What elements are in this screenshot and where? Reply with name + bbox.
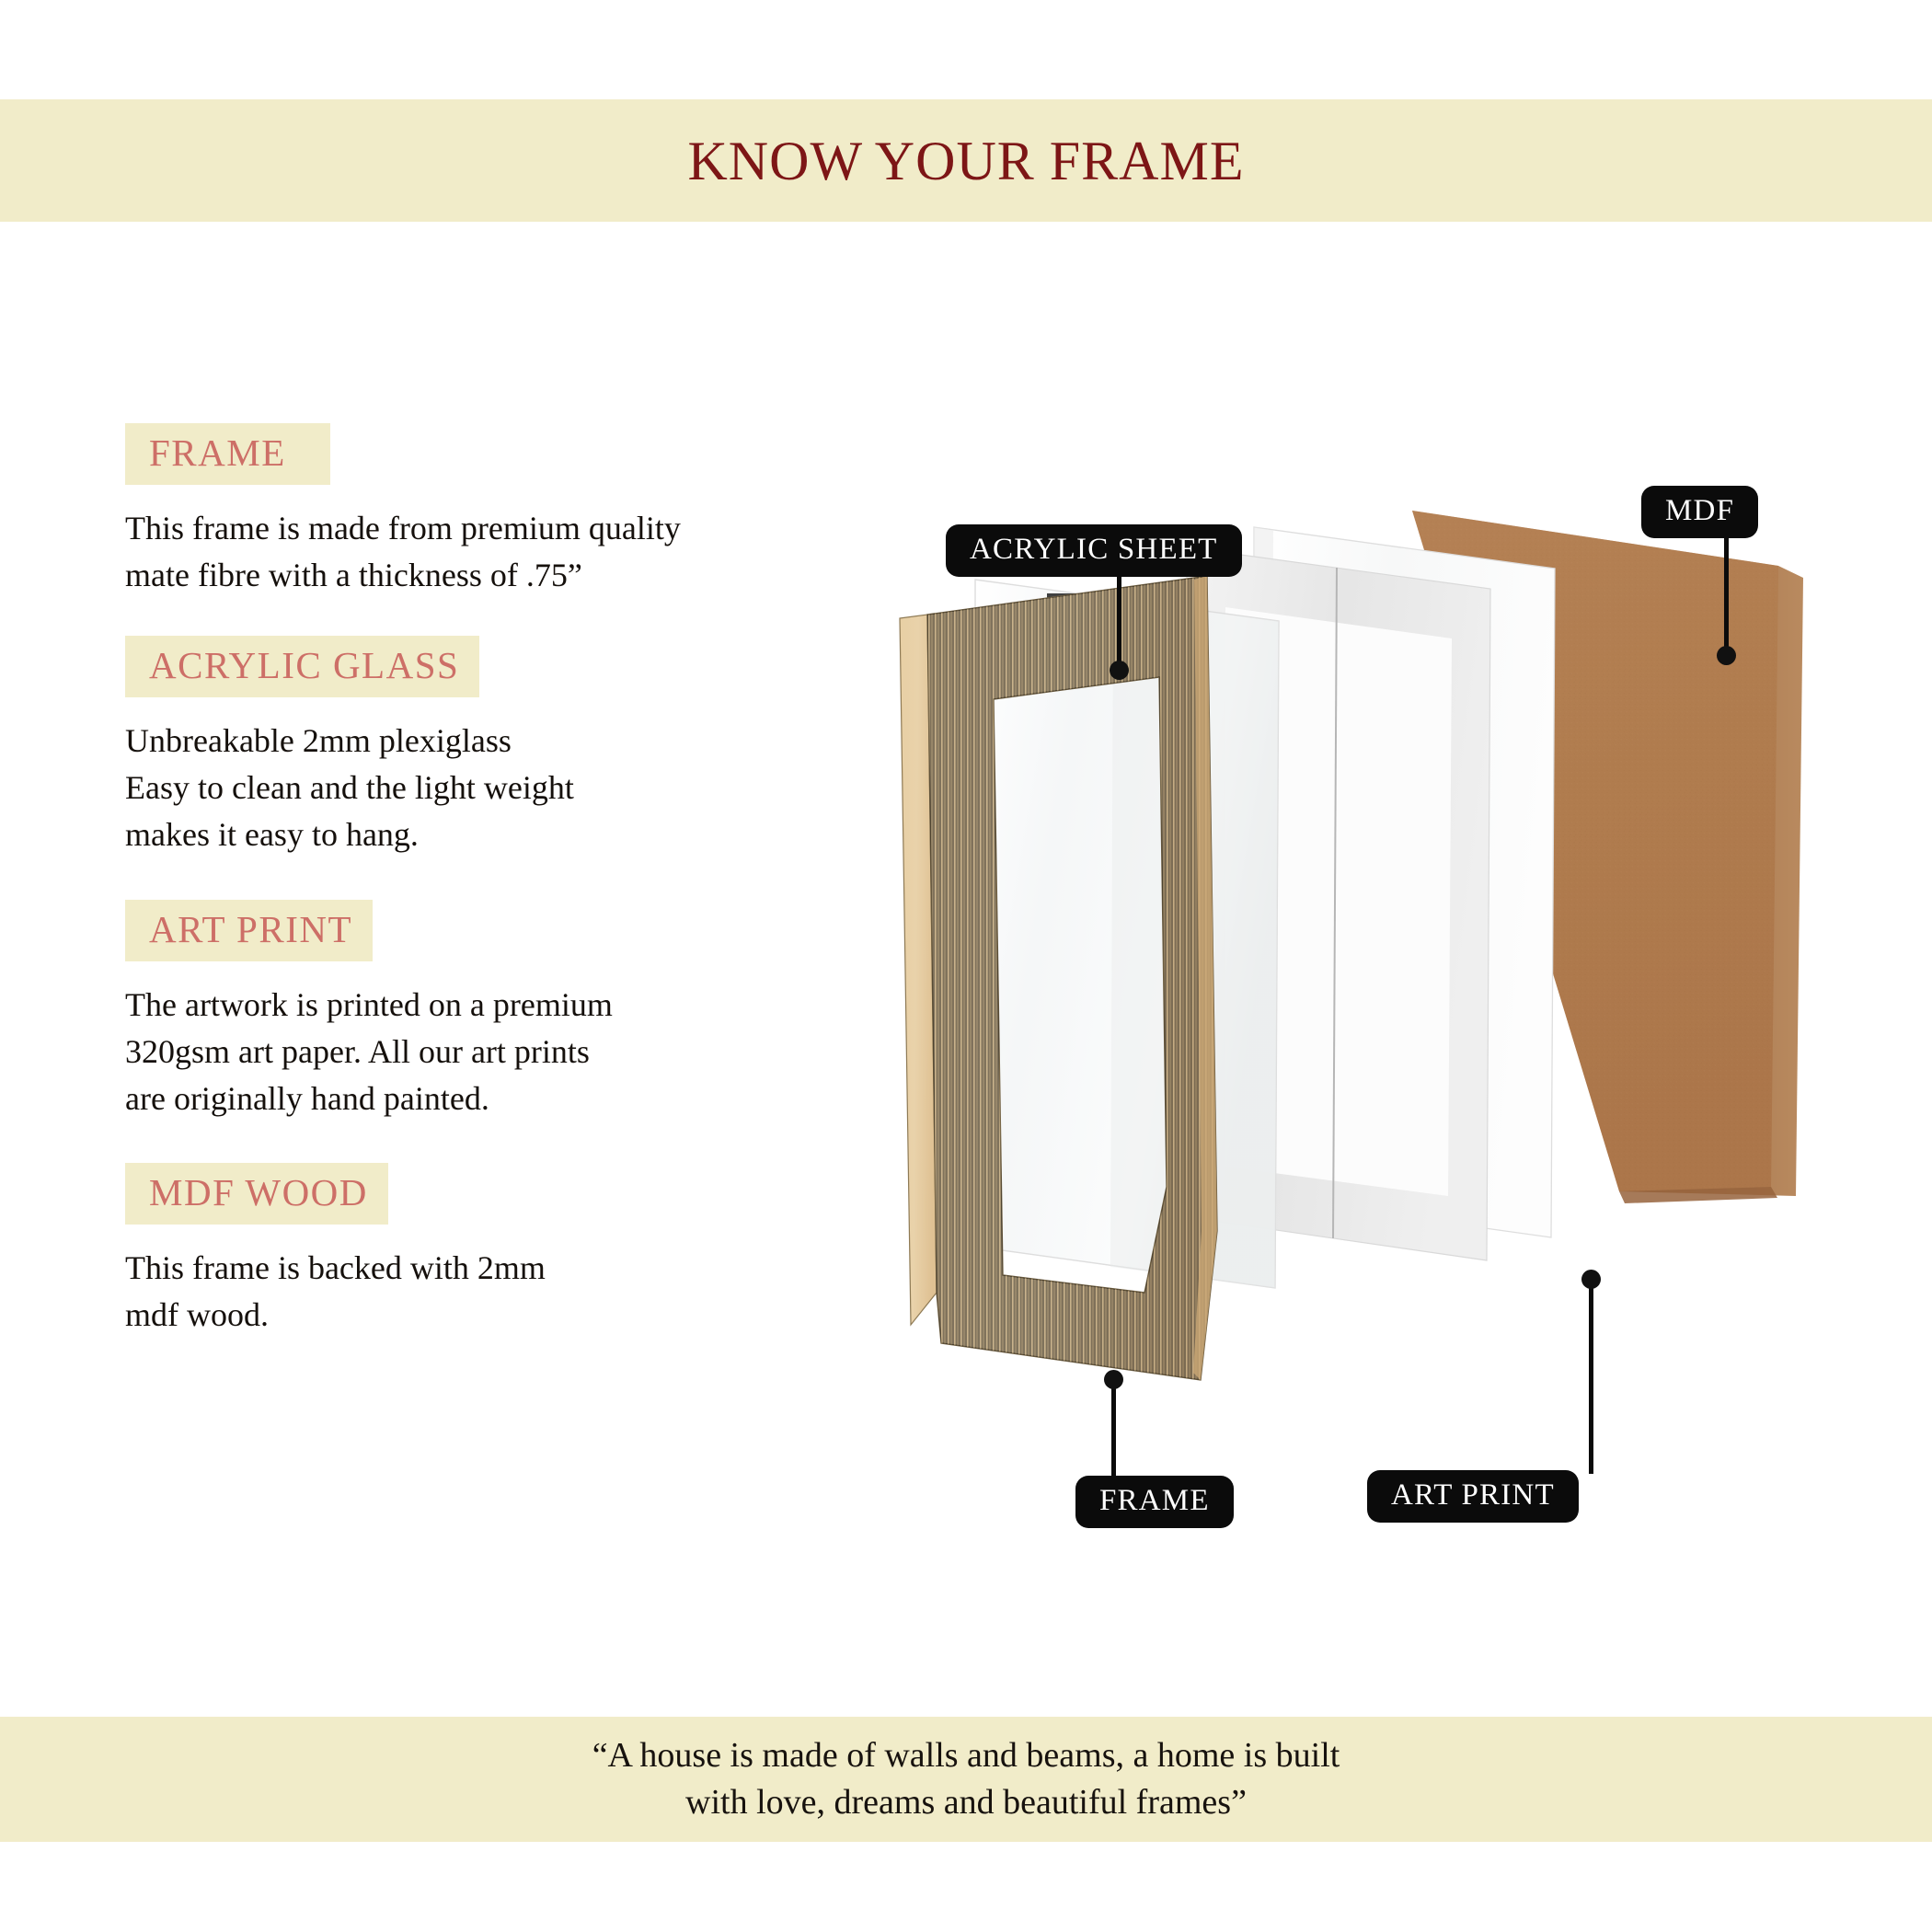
leader-dot-frame — [1104, 1370, 1123, 1389]
leader-line-acrylic-sheet — [1117, 568, 1121, 669]
footer-quote-line-2: with love, dreams and beautiful frames” — [685, 1779, 1247, 1826]
footer-banner: “A house is made of walls and beams, a h… — [0, 1717, 1932, 1842]
section-heading-acrylic-glass: ACRYLIC GLASS — [125, 636, 479, 697]
section-heading-art-print: ART PRINT — [125, 900, 373, 961]
footer-quote-line-1: “A house is made of walls and beams, a h… — [592, 1732, 1340, 1779]
page-title: KNOW YOUR FRAME — [687, 133, 1244, 189]
info-section-frame: FRAME This frame is made from premium qu… — [125, 423, 889, 599]
leader-line-mdf — [1724, 531, 1729, 655]
leader-dot-acrylic-sheet — [1110, 661, 1129, 680]
info-section-mdf-wood: MDF WOOD This frame is backed with 2mm m… — [125, 1163, 889, 1339]
section-heading-mdf-wood: MDF WOOD — [125, 1163, 388, 1225]
section-body-frame: This frame is made from premium quality … — [125, 505, 889, 599]
callout-label-acrylic-sheet: ACRYLIC SHEET — [946, 524, 1242, 577]
leader-line-art-print — [1589, 1279, 1593, 1474]
section-body-acrylic-glass: Unbreakable 2mm plexiglass Easy to clean… — [125, 718, 889, 858]
section-heading-frame: FRAME — [125, 423, 330, 485]
info-section-acrylic-glass: ACRYLIC GLASS Unbreakable 2mm plexiglass… — [125, 636, 889, 858]
leader-dot-mdf — [1717, 646, 1736, 665]
callout-label-art-print: ART PRINT — [1367, 1470, 1579, 1523]
callout-label-frame: FRAME — [1075, 1476, 1234, 1528]
leader-line-frame — [1111, 1380, 1116, 1479]
section-body-art-print: The artwork is printed on a premium 320g… — [125, 982, 889, 1122]
exploded-frame-diagram — [883, 460, 1914, 1592]
section-body-mdf-wood: This frame is backed with 2mm mdf wood. — [125, 1245, 889, 1339]
leader-dot-art-print — [1581, 1270, 1601, 1289]
info-section-art-print: ART PRINT The artwork is printed on a pr… — [125, 900, 889, 1122]
header-banner: KNOW YOUR FRAME — [0, 99, 1932, 222]
callout-label-mdf: MDF — [1641, 486, 1758, 538]
info-column: FRAME This frame is made from premium qu… — [125, 423, 889, 1359]
